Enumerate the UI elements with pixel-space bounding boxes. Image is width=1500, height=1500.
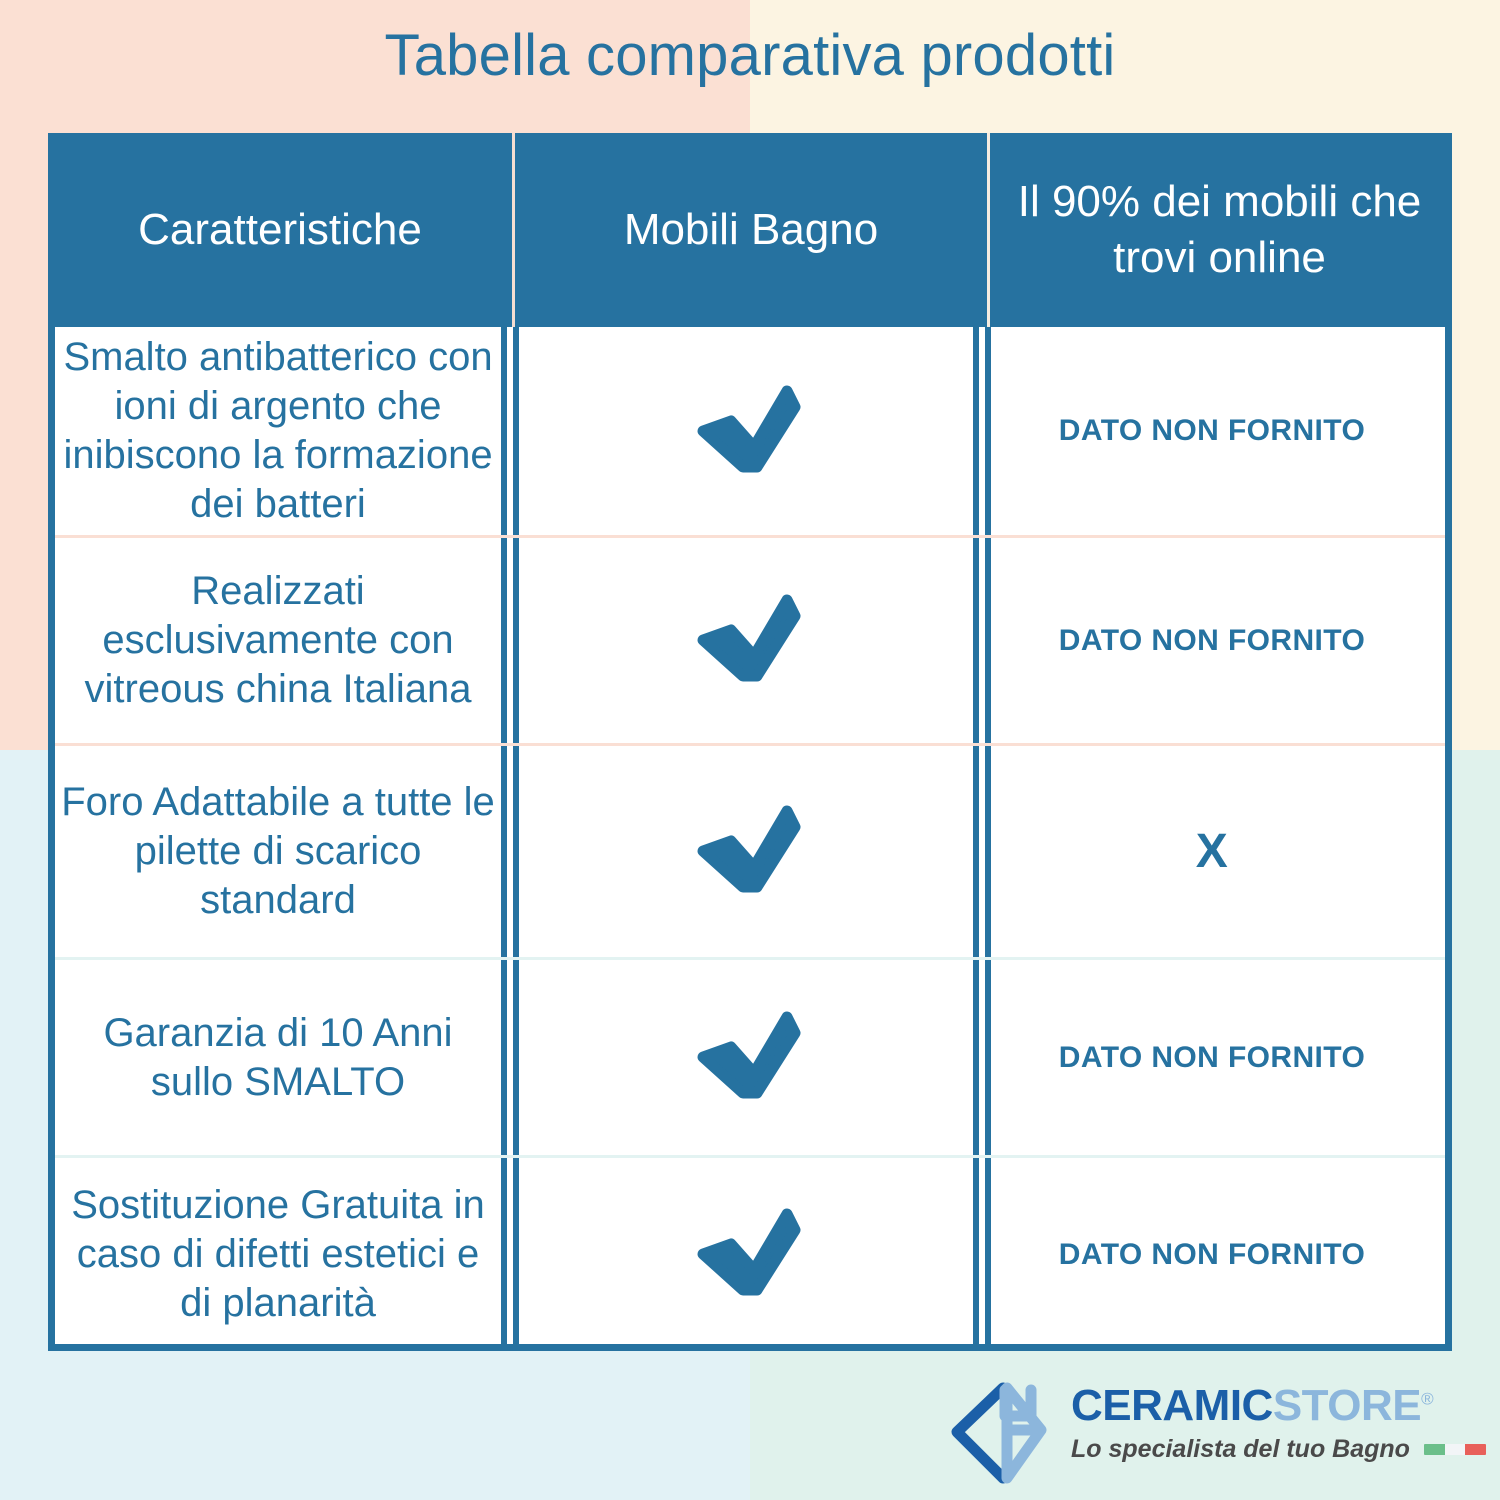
online-value: X	[985, 746, 1433, 957]
table-row: Garanzia di 10 Anni sullo SMALTO DATO NO…	[55, 960, 1445, 1158]
check-icon	[691, 385, 801, 478]
mobili-bagno-value	[513, 746, 979, 957]
logo-text-block: CERAMICSTORE® Lo specialista del tuo Bag…	[1071, 1382, 1486, 1464]
online-value: DATO NON FORNITO	[985, 1158, 1433, 1351]
mobili-bagno-value	[513, 538, 979, 743]
online-value: DATO NON FORNITO	[985, 327, 1433, 535]
mobili-bagno-value	[513, 327, 979, 535]
feature-label: Smalto antibatterico con ioni di argento…	[55, 327, 507, 535]
check-icon	[691, 1011, 801, 1104]
online-value: DATO NON FORNITO	[985, 538, 1433, 743]
table-row: Foro Adattabile a tutte le pilette di sc…	[55, 746, 1445, 960]
logo-wordmark: CERAMICSTORE®	[1071, 1384, 1486, 1428]
check-icon	[691, 805, 801, 898]
table-header-row: Caratteristiche Mobili Bagno Il 90% dei …	[48, 133, 1452, 327]
column-header-online: Il 90% dei mobili che trovi online	[990, 133, 1449, 327]
column-header-mobili-bagno: Mobili Bagno	[515, 133, 990, 327]
feature-label: Foro Adattabile a tutte le pilette di sc…	[55, 746, 507, 957]
comparison-table-infographic: Tabella comparativa prodotti Caratterist…	[0, 0, 1500, 1500]
brand-logo: CERAMICSTORE® Lo specialista del tuo Bag…	[945, 1382, 1486, 1491]
online-value: DATO NON FORNITO	[985, 960, 1433, 1155]
table-row: Sostituzione Gratuita in caso di difetti…	[55, 1158, 1445, 1351]
logo-word-ceramic: CERAMIC	[1071, 1381, 1273, 1430]
feature-label: Garanzia di 10 Anni sullo SMALTO	[55, 960, 507, 1155]
page-title: Tabella comparativa prodotti	[0, 22, 1500, 89]
check-icon	[691, 1208, 801, 1301]
table-body: Smalto antibatterico con ioni di argento…	[48, 327, 1452, 1351]
italian-flag-icon	[1424, 1444, 1486, 1455]
table-row: Smalto antibatterico con ioni di argento…	[55, 327, 1445, 538]
logo-word-store: STORE	[1273, 1381, 1421, 1430]
logo-tagline: Lo specialista del tuo Bagno	[1071, 1435, 1410, 1464]
registered-trademark-icon: ®	[1421, 1389, 1433, 1408]
feature-label: Realizzati esclusivamente con vitreous c…	[55, 538, 507, 743]
feature-label: Sostituzione Gratuita in caso di difetti…	[55, 1158, 507, 1351]
table-row: Realizzati esclusivamente con vitreous c…	[55, 538, 1445, 746]
comparison-table: Caratteristiche Mobili Bagno Il 90% dei …	[48, 133, 1452, 1351]
ceramicstore-logo-icon	[945, 1382, 1057, 1491]
mobili-bagno-value	[513, 960, 979, 1155]
mobili-bagno-value	[513, 1158, 979, 1351]
column-header-caratteristiche: Caratteristiche	[48, 133, 515, 327]
logo-tagline-row: Lo specialista del tuo Bagno	[1071, 1435, 1486, 1464]
check-icon	[691, 594, 801, 687]
